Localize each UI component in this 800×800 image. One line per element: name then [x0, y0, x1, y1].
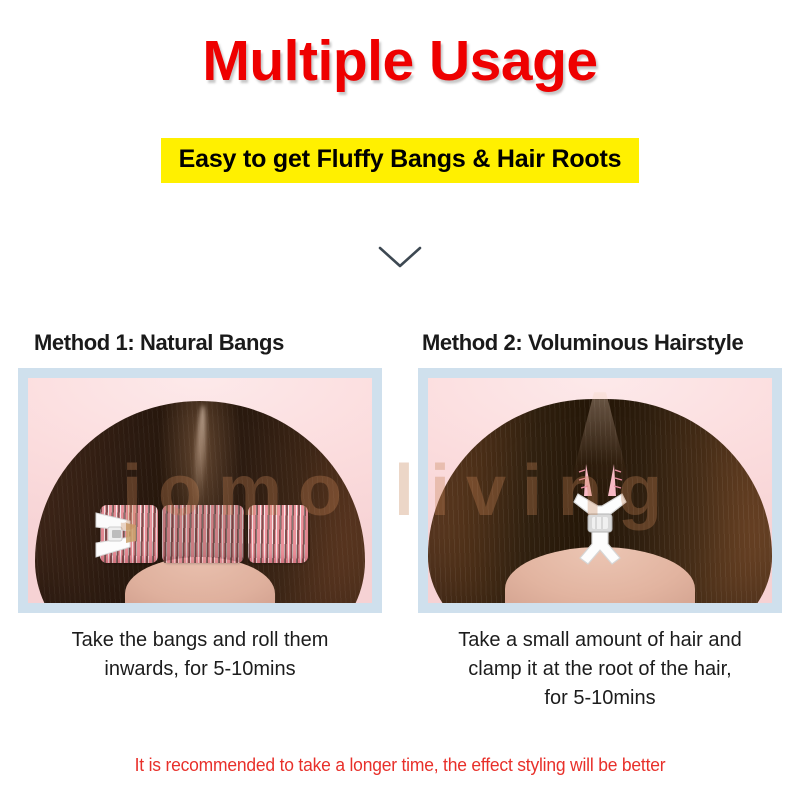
- caption-line: Take the bangs and roll them: [40, 626, 360, 655]
- banner-row: Easy to get Fluffy Bangs & Hair Roots: [0, 138, 800, 183]
- section-divider: [0, 244, 800, 270]
- page-title: Multiple Usage: [0, 32, 800, 92]
- volumizing-clip-icon: [558, 462, 642, 570]
- captions-row: Take the bangs and roll them inwards, fo…: [0, 626, 800, 713]
- method-2-caption: Take a small amount of hair and clamp it…: [400, 626, 800, 713]
- method-1: Method 1: Natural Bangs: [0, 330, 400, 613]
- caption-line: Take a small amount of hair and: [440, 626, 760, 655]
- caption-line: for 5-10mins: [440, 684, 760, 713]
- method-1-photo-inner: [28, 378, 372, 603]
- method-1-photo: [18, 368, 382, 613]
- methods-row: Method 1: Natural Bangs: [0, 330, 800, 613]
- caption-line: clamp it at the root of the hair,: [440, 655, 760, 684]
- method-2: Method 2: Voluminous Hairstyle: [400, 330, 800, 613]
- footer-note: It is recommended to take a longer time,…: [12, 755, 788, 776]
- method-2-photo-inner: [428, 378, 772, 603]
- caption-line: inwards, for 5-10mins: [40, 655, 360, 684]
- method-2-heading: Method 2: Voluminous Hairstyle: [418, 330, 782, 356]
- method-2-photo: [418, 368, 782, 613]
- hair-clip-icon: [90, 501, 140, 569]
- method-1-caption: Take the bangs and roll them inwards, fo…: [0, 626, 400, 713]
- method-1-heading: Method 1: Natural Bangs: [18, 330, 382, 356]
- chevron-down-icon: [377, 244, 423, 270]
- subtitle-banner: Easy to get Fluffy Bangs & Hair Roots: [161, 138, 640, 183]
